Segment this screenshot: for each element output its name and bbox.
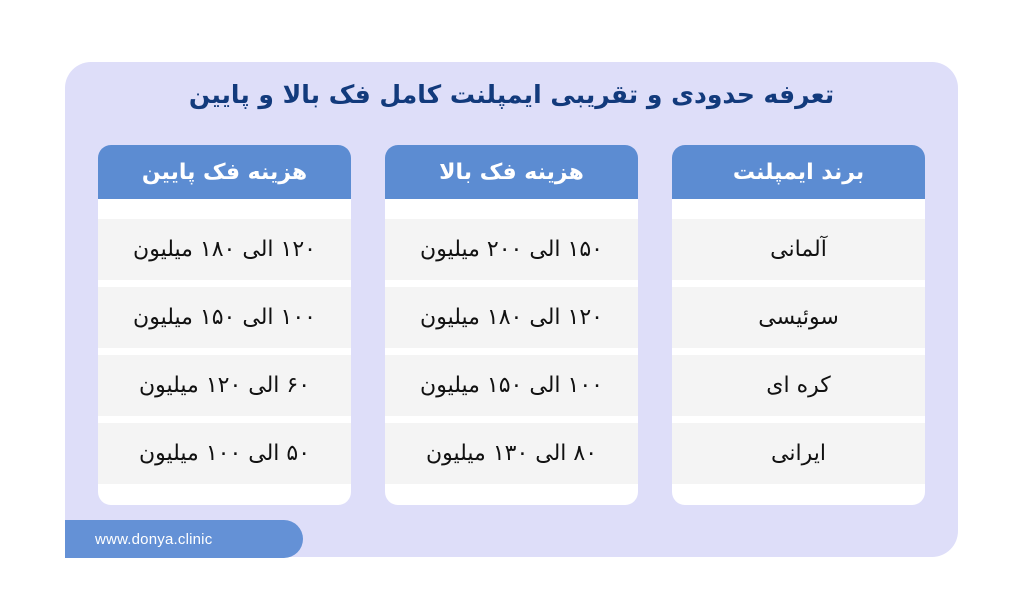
table-cell: ۱۲۰ الی ۱۸۰ میلیون <box>385 287 638 348</box>
column-body-lower-jaw-cost: ۱۲۰ الی ۱۸۰ میلیون ۱۰۰ الی ۱۵۰ میلیون ۶۰… <box>98 199 351 505</box>
footer-url-ribbon[interactable]: www.donya.clinic <box>65 520 303 558</box>
column-header-brand: برند ایمپلنت <box>672 145 925 199</box>
page-title: تعرفه حدودی و تقریبی ایمپلنت کامل فک بال… <box>65 78 958 112</box>
table-cell: ۸۰ الی ۱۳۰ میلیون <box>385 423 638 484</box>
table-column-brand: برند ایمپلنت آلمانی سوئیسی کره ای ایرانی <box>672 145 925 505</box>
table-cell: ۱۰۰ الی ۱۵۰ میلیون <box>385 355 638 416</box>
column-body-upper-jaw-cost: ۱۵۰ الی ۲۰۰ میلیون ۱۲۰ الی ۱۸۰ میلیون ۱۰… <box>385 199 638 505</box>
table-cell: ۵۰ الی ۱۰۰ میلیون <box>98 423 351 484</box>
column-header-upper-jaw-cost: هزینه فک بالا <box>385 145 638 199</box>
website-url: www.donya.clinic <box>65 531 212 548</box>
table-column-upper-jaw-cost: هزینه فک بالا ۱۵۰ الی ۲۰۰ میلیون ۱۲۰ الی… <box>385 145 638 505</box>
table-cell: ۱۵۰ الی ۲۰۰ میلیون <box>385 219 638 280</box>
table-cell: کره ای <box>672 355 925 416</box>
table-cell: ۱۰۰ الی ۱۵۰ میلیون <box>98 287 351 348</box>
table-cell: ۱۲۰ الی ۱۸۰ میلیون <box>98 219 351 280</box>
table-cell: آلمانی <box>672 219 925 280</box>
infographic-card: تعرفه حدودی و تقریبی ایمپلنت کامل فک بال… <box>65 62 958 557</box>
pricing-table: برند ایمپلنت آلمانی سوئیسی کره ای ایرانی… <box>98 145 925 505</box>
table-cell: ۶۰ الی ۱۲۰ میلیون <box>98 355 351 416</box>
table-column-lower-jaw-cost: هزینه فک پایین ۱۲۰ الی ۱۸۰ میلیون ۱۰۰ ال… <box>98 145 351 505</box>
table-cell: سوئیسی <box>672 287 925 348</box>
column-body-brand: آلمانی سوئیسی کره ای ایرانی <box>672 199 925 505</box>
table-cell: ایرانی <box>672 423 925 484</box>
column-header-lower-jaw-cost: هزینه فک پایین <box>98 145 351 199</box>
